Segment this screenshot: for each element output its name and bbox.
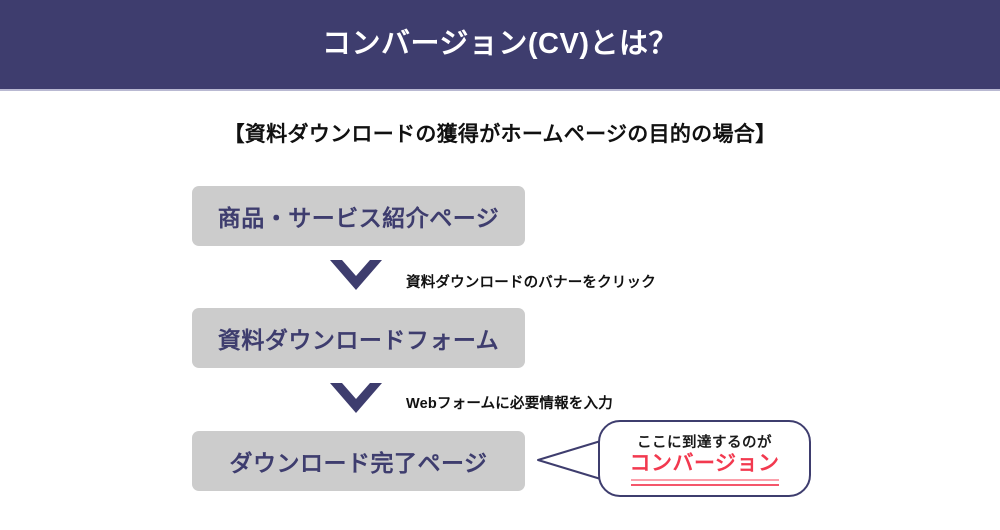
flow-step-box-1: 商品・サービス紹介ページ xyxy=(192,186,525,246)
chevron-down-icon xyxy=(330,383,382,413)
transition-caption-1: 資料ダウンロードのバナーをクリック xyxy=(406,271,656,292)
flow-step-box-3: ダウンロード完了ページ xyxy=(192,431,525,491)
flow-step-label-3: ダウンロード完了ページ xyxy=(229,444,487,478)
callout-line-1: ここに到達するのが xyxy=(637,431,772,452)
transition-caption-2: Webフォームに必要情報を入力 xyxy=(406,392,613,413)
chevron-down-icon xyxy=(330,260,382,290)
page-title: コンバージョン(CV)とは？ xyxy=(322,30,678,59)
underline-upper xyxy=(631,479,779,481)
flow-step-box-2: 資料ダウンロードフォーム xyxy=(192,308,525,368)
flow-step-label-1: 商品・サービス紹介ページ xyxy=(218,199,500,233)
callout-double-underline xyxy=(631,479,779,486)
conversion-callout: ここに到達するのが コンバージョン xyxy=(598,420,811,497)
callout-line-2-highlight: コンバージョン xyxy=(629,453,779,475)
header-divider xyxy=(0,89,1000,91)
callout-tail-pointer xyxy=(534,438,606,482)
underline-lower xyxy=(631,484,779,486)
flow-step-label-2: 資料ダウンロードフォーム xyxy=(218,321,499,355)
header-band: コンバージョン(CV)とは？ xyxy=(0,0,1000,89)
subtitle: 【資料ダウンロードの獲得がホームページの目的の場合】 xyxy=(0,118,1000,148)
